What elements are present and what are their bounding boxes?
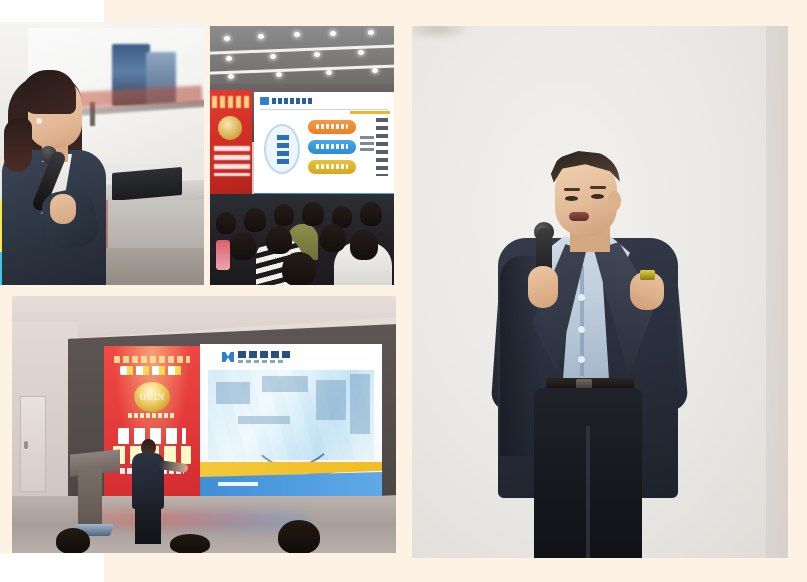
slide-footer-url (218, 482, 258, 486)
slide-logo (260, 97, 316, 105)
audience-head (274, 204, 294, 226)
audience-head (302, 202, 324, 226)
speaker-earring (36, 118, 42, 124)
equipment-block (216, 382, 250, 404)
audience-head-foreground (170, 534, 210, 553)
presenter-legs (135, 504, 161, 544)
ceiling-light-icon (358, 50, 364, 55)
audience-head (350, 230, 378, 260)
speaker-mouth (569, 212, 589, 221)
event-red-banner (210, 90, 252, 206)
photo-woman-speaking-at-podium[interactable] (0, 22, 204, 285)
odin-logo-icon: ODIN (134, 382, 170, 412)
audience-head (320, 224, 346, 252)
slide-oval-node (264, 124, 300, 174)
audience-head (216, 212, 236, 234)
speaker-eye (591, 194, 604, 199)
trouser-leg-seam (586, 426, 590, 558)
photo-conference-hall-audience[interactable] (210, 26, 394, 285)
audience-head-foreground (278, 520, 320, 553)
photo-man-speaking-with-microphone[interactable] (412, 26, 788, 558)
audience-head (230, 232, 256, 260)
corner-notch-top-left (0, 0, 104, 22)
ceiling-fitting (412, 26, 472, 40)
speaker-eyebrow (564, 188, 580, 191)
audience-head-foreground (282, 252, 316, 285)
clicker-icon (640, 270, 655, 280)
projected-strategy-slide (254, 92, 394, 206)
door-icon (20, 396, 46, 492)
corner-notch-bottom-left (0, 553, 104, 582)
shirt-button (578, 356, 585, 363)
slide-right-column-text (376, 118, 388, 176)
slide-oval-label (277, 135, 289, 167)
ceiling-light-icon (224, 36, 230, 41)
ceiling-light-icon (368, 30, 374, 35)
brand-mark-icon (222, 352, 234, 362)
brand-wordmark (238, 351, 290, 358)
lectern-body (78, 468, 102, 532)
speaker-hair-front (20, 70, 76, 114)
odin-seal-icon (218, 116, 242, 140)
speaker-ear (608, 191, 621, 211)
slide-box-label (316, 124, 348, 129)
audience-head (360, 202, 382, 226)
slide-middle-annotation (360, 136, 374, 154)
wall-corner-edge (766, 26, 788, 558)
collage-page: ODIN (0, 0, 807, 582)
ceiling-light-icon (326, 70, 332, 75)
slide-box-yellow (308, 160, 356, 174)
ceiling-light-icon (330, 31, 336, 36)
water-bottle (216, 240, 230, 270)
odin-wordmark: ODIN (139, 392, 164, 402)
speaker-ponytail (4, 118, 32, 172)
equipment-block (262, 376, 308, 392)
ceiling-trim-line (210, 44, 394, 55)
stage-floor-light-reflection (98, 502, 308, 536)
shirt-button (578, 326, 585, 333)
ceiling-trim-line (210, 64, 394, 75)
brand-mark-icon (260, 97, 269, 105)
slide-sub-ribbon (120, 366, 184, 375)
photo-stage-presenter-with-screen[interactable]: ODIN (12, 296, 396, 553)
ceiling-light-icon (294, 32, 300, 37)
hall-ceiling (210, 26, 394, 88)
ceiling-light-icon (228, 74, 234, 79)
banner-top-text (212, 96, 250, 108)
slide-box-blue (308, 140, 356, 154)
door-handle-icon (24, 441, 28, 449)
slide-top-ribbon (114, 356, 190, 363)
shirt-button (578, 294, 585, 301)
product-photo-panel (208, 370, 374, 460)
speaker-hand-holding-mic (528, 266, 558, 308)
ceiling-light-icon (372, 68, 378, 73)
ceiling-light-icon (276, 72, 282, 77)
banner-title-text (214, 146, 250, 176)
ceiling-light-icon (314, 52, 320, 57)
brand-wordmark (272, 98, 314, 104)
slide-sponsor-line (128, 413, 176, 418)
audience-head (244, 208, 266, 232)
slide-box-orange (308, 120, 356, 134)
audience-head-foreground (56, 528, 90, 553)
slide-box-label (316, 144, 348, 149)
ceiling-light-icon (258, 34, 264, 39)
summit-key-visual-white-panel (200, 344, 382, 500)
ceiling-light-icon (226, 56, 232, 61)
slide-accent-bar (350, 111, 390, 114)
speaker-eyebrow (590, 186, 606, 189)
brand-wordmark-sub (238, 360, 284, 363)
ceiling-light-icon (270, 54, 276, 59)
speaker-hand (50, 194, 76, 224)
audience-head (266, 226, 292, 254)
slide-divider (260, 109, 388, 110)
speaker-eye (565, 196, 578, 201)
slide-box-label (316, 164, 348, 169)
